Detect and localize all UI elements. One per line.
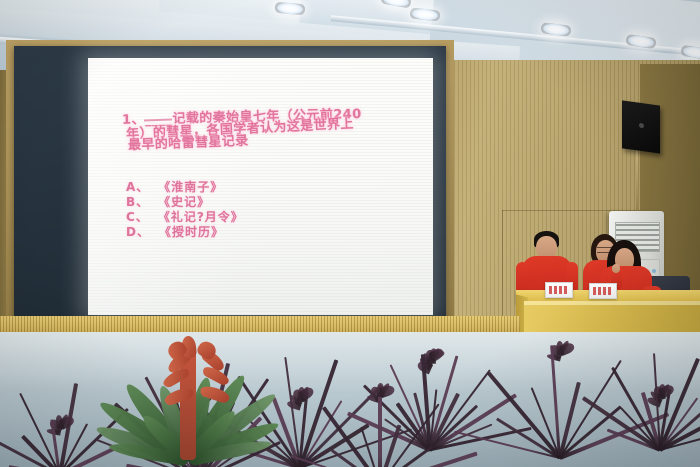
floor (0, 332, 700, 467)
speaker-cable (636, 150, 638, 210)
speaker-driver (639, 123, 644, 129)
option-d-key: D、 (126, 225, 150, 239)
name-card-2 (589, 283, 617, 299)
ac-led (652, 269, 656, 273)
wall-speaker-icon (622, 100, 660, 153)
option-c-text: 《礼记?月令》 (158, 210, 244, 224)
option-a-key: A、 (126, 180, 149, 194)
option-a-text: 《淮南子》 (158, 180, 223, 194)
hand-right (612, 264, 620, 273)
photo-scene: 1、____记载的秦始皇七年（公元前240 年）的彗星，各国学者认为这是世界上 … (0, 0, 700, 467)
slide-option-d: D、《授时历》 (126, 223, 224, 240)
option-b-text: 《史记》 (158, 195, 210, 209)
question-line-3: 最早的哈雷彗星记录 (128, 130, 249, 154)
option-b-key: B、 (126, 195, 149, 209)
floor-sheen (0, 332, 700, 392)
desk-edge-highlight (524, 301, 700, 305)
option-c-key: C、 (126, 210, 149, 224)
option-d-text: 《授时历》 (159, 225, 224, 239)
name-card-1-text (549, 286, 569, 294)
slide-content: 1、____记载的秦始皇七年（公元前240 年）的彗星，各国学者认为这是世界上 … (88, 58, 433, 315)
name-card-1 (545, 282, 573, 298)
name-card-2-text (593, 287, 613, 295)
